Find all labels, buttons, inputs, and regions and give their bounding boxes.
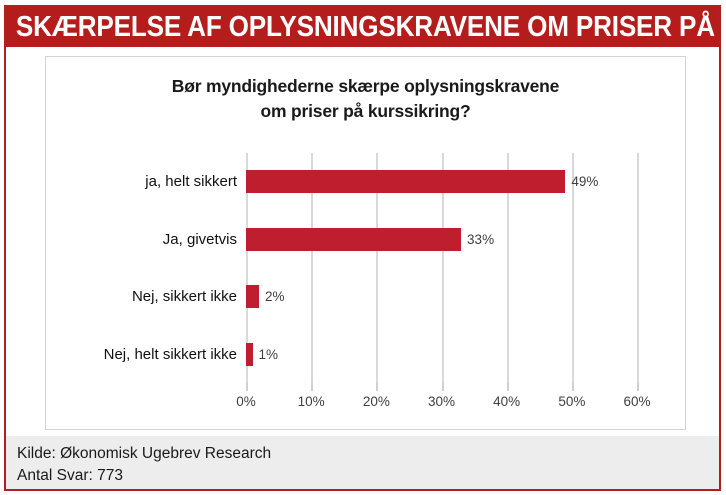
bar — [246, 285, 259, 308]
x-axis-tick-label: 10% — [298, 394, 325, 409]
x-axis-tick-mark — [442, 383, 444, 391]
bar-value-label: 2% — [259, 285, 285, 308]
x-axis-tick-label: 40% — [493, 394, 520, 409]
bar-value-label: 1% — [253, 343, 279, 366]
x-axis-tick-mark — [376, 383, 378, 391]
footer-source: Kilde: Økonomisk Ugebrev Research — [17, 443, 719, 465]
category-label: Ja, givetvis — [163, 228, 237, 251]
infographic-chart-card: SKÆRPELSE AF OPLYSNINGSKRAVENE OM PRISER… — [0, 0, 726, 495]
gridline-60 — [637, 153, 639, 383]
chart-frame: Bør myndighederne skærpe oplysningskrave… — [45, 56, 686, 430]
bar-row: Nej, helt sikkert ikke1% — [246, 326, 637, 384]
x-axis-tick-mark — [507, 383, 509, 391]
x-axis-tick-label: 60% — [623, 394, 650, 409]
banner-title: SKÆRPELSE AF OPLYSNINGSKRAVENE OM PRISER… — [6, 13, 719, 42]
chart-title-line-2: om priser på kurssikring? — [46, 99, 685, 124]
banner-header: SKÆRPELSE AF OPLYSNINGSKRAVENE OM PRISER… — [6, 7, 719, 47]
bar-row: Ja, givetvis33% — [246, 211, 637, 269]
x-axis-tick-mark — [246, 383, 248, 391]
chart-title-line-1: Bør myndighederne skærpe oplysningskrave… — [46, 74, 685, 99]
bar-value-label: 33% — [461, 228, 494, 251]
bar-row: Nej, sikkert ikke2% — [246, 268, 637, 326]
x-axis-tick-label: 30% — [428, 394, 455, 409]
bar — [246, 228, 461, 251]
bar-value-label: 49% — [565, 170, 598, 193]
bar-row: ja, helt sikkert49% — [246, 153, 637, 211]
chart-title: Bør myndighederne skærpe oplysningskrave… — [46, 74, 685, 125]
x-axis-tick-mark — [311, 383, 313, 391]
category-label: Nej, sikkert ikke — [132, 285, 237, 308]
bar — [246, 170, 565, 193]
footer-responses: Antal Svar: 773 — [17, 465, 719, 487]
x-axis-tick-label: 0% — [236, 394, 256, 409]
x-axis-tick-mark — [637, 383, 639, 391]
plot-area: 0%10%20%30%40%50%60%ja, helt sikkert49%J… — [246, 153, 637, 383]
category-label: Nej, helt sikkert ikke — [104, 343, 237, 366]
category-label: ja, helt sikkert — [145, 170, 237, 193]
x-axis-tick-label: 20% — [363, 394, 390, 409]
x-axis-tick-mark — [572, 383, 574, 391]
x-axis-tick-label: 50% — [558, 394, 585, 409]
footer-note: Kilde: Økonomisk Ugebrev Research Antal … — [6, 436, 719, 489]
